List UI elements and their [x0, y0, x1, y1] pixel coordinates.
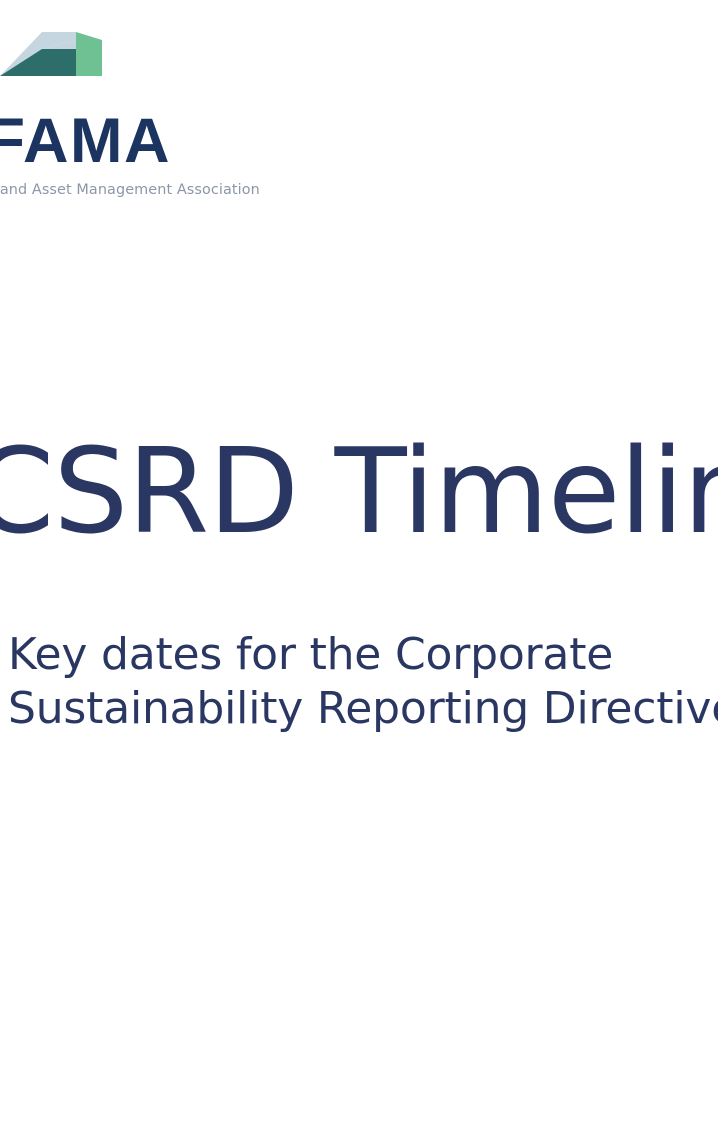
page-subtitle: Key dates for the Corporate Sustainabili…	[8, 628, 698, 735]
efama-tagline: n Fund and Asset Management Association	[0, 183, 342, 199]
empty-content-area	[0, 760, 718, 1125]
cover-page: EFAMA n Fund and Asset Management Associ…	[0, 0, 718, 1125]
efama-fan-mark-icon	[0, 18, 172, 96]
efama-wordmark: EFAMA	[0, 110, 342, 173]
efama-logo: EFAMA n Fund and Asset Management Associ…	[0, 18, 342, 199]
page-title: CSRD Timeline	[0, 432, 718, 550]
page-subtitle-line-2: Sustainability Reporting Directive	[8, 682, 698, 736]
page-subtitle-line-1: Key dates for the Corporate	[8, 628, 698, 682]
